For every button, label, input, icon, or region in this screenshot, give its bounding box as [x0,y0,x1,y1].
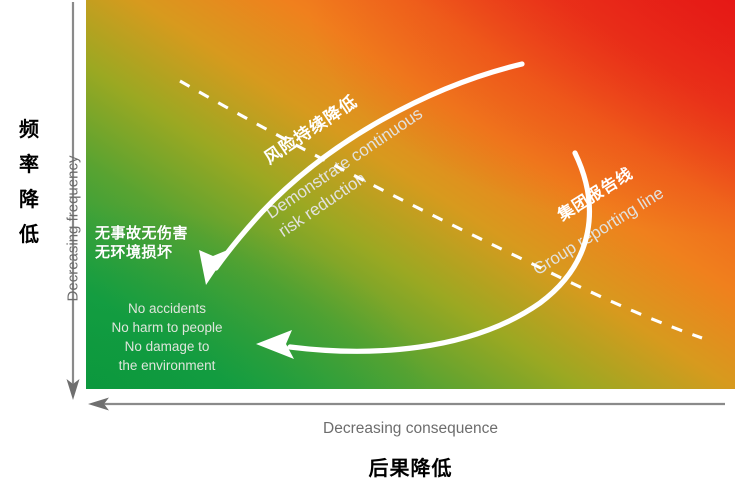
risk-matrix-diagram: 无事故无伤害 无环境损坏 No accidents No harm to peo… [0,0,735,486]
x-axis-label-cn: 后果降低 [86,452,735,481]
x-axis-label-en: Decreasing consequence [86,420,735,438]
y-axis-arrowhead [67,379,80,400]
target-zone-label-cn: 无事故无伤害 无环境损坏 [95,224,188,262]
y-axis-label-en: Decreasing frequency [65,134,82,324]
x-axis-arrowhead [88,398,109,411]
y-axis-label-cn: 频率降低 [14,112,44,252]
target-zone-label-en: No accidents No harm to people No damage… [86,299,248,375]
